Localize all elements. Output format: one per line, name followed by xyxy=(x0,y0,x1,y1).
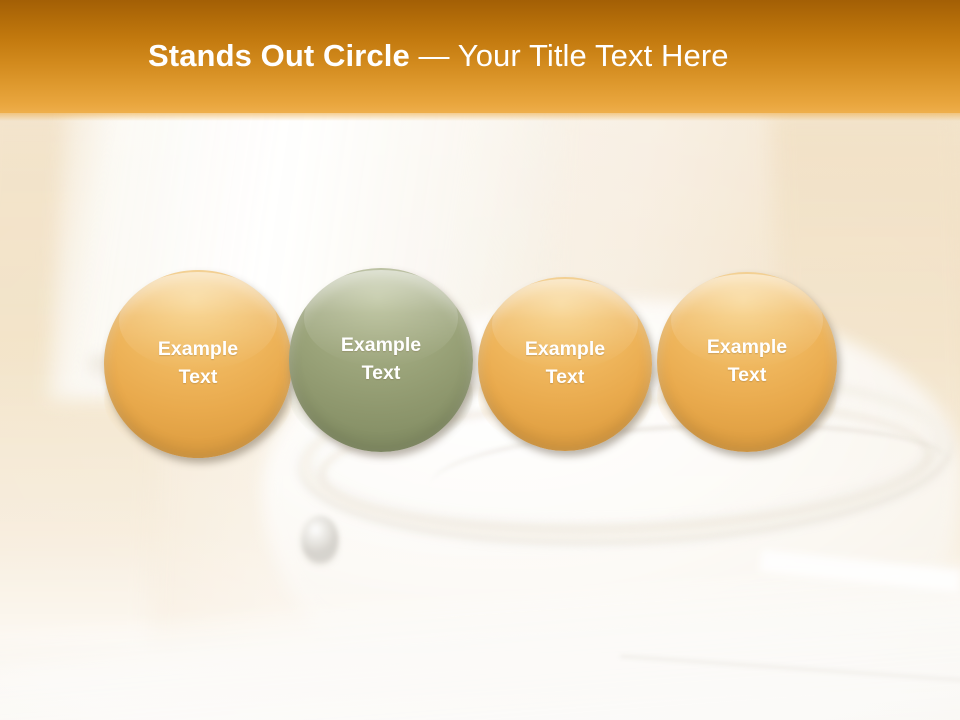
circle-label-2-line2: Text xyxy=(362,362,401,384)
circle-item-2-highlighted[interactable]: Example Text xyxy=(289,268,473,452)
circle-label-4-line1: Example xyxy=(707,336,787,358)
circle-label-2: Example Text xyxy=(341,332,421,387)
circle-label-3-line2: Text xyxy=(546,366,585,388)
title-separator: — xyxy=(410,38,458,73)
circle-shape-4[interactable]: Example Text xyxy=(657,272,837,452)
title-light-part: Your Title Text Here xyxy=(458,38,729,73)
circle-item-4[interactable]: Example Text xyxy=(657,272,837,452)
circle-label-1: Example Text xyxy=(158,336,238,391)
title-bar: Stands Out Circle — Your Title Text Here xyxy=(0,0,960,113)
slide-canvas: Stands Out Circle — Your Title Text Here… xyxy=(0,0,960,720)
title-bold-part: Stands Out Circle xyxy=(148,38,410,73)
circle-shape-3[interactable]: Example Text xyxy=(478,277,652,451)
circle-shape-2[interactable]: Example Text xyxy=(289,268,473,452)
circle-label-3-line1: Example xyxy=(525,338,605,360)
circle-label-3: Example Text xyxy=(525,336,605,391)
circle-item-3[interactable]: Example Text xyxy=(478,277,652,451)
circle-label-4-line2: Text xyxy=(728,364,767,386)
page-title: Stands Out Circle — Your Title Text Here xyxy=(148,39,729,73)
circle-shape-1[interactable]: Example Text xyxy=(104,270,292,458)
circle-item-1[interactable]: Example Text xyxy=(104,270,292,458)
circle-label-2-line1: Example xyxy=(341,334,421,356)
circle-label-1-line1: Example xyxy=(158,338,238,360)
circle-label-1-line2: Text xyxy=(179,366,218,388)
circle-label-4: Example Text xyxy=(707,334,787,389)
